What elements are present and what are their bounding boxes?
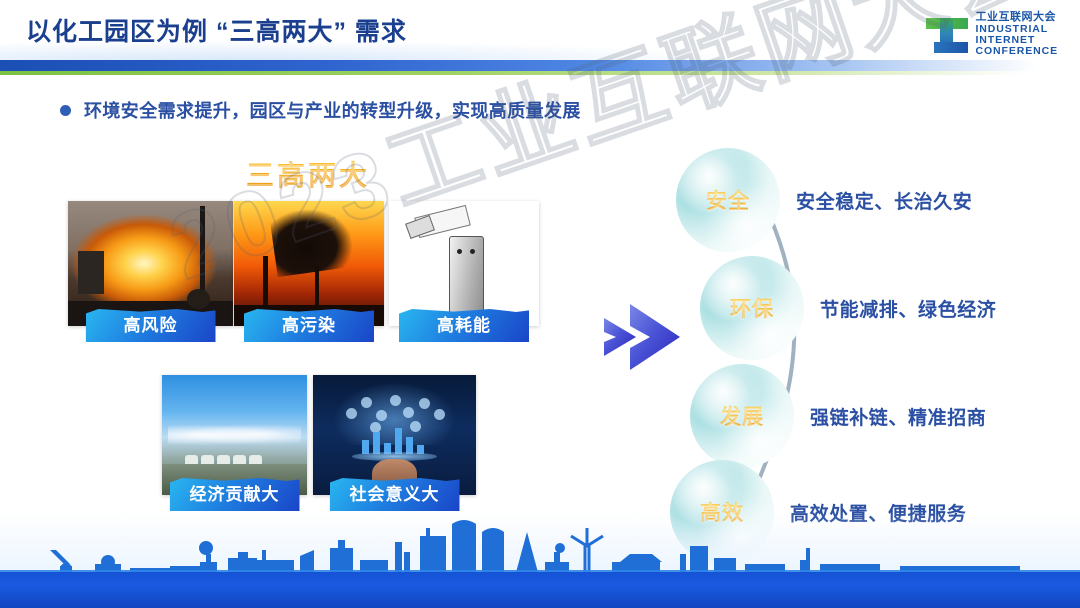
- bubble-label-safety: 安全: [706, 185, 750, 215]
- card-label-economic-contribution: 经济贡献大: [170, 478, 300, 511]
- card-label-high-energy: 高耗能: [399, 309, 529, 342]
- bubble-development: 发展: [690, 364, 794, 468]
- benefit-item-environment: 环保 节能减排、绿色经济: [700, 256, 996, 360]
- bubble-environment: 环保: [700, 256, 804, 360]
- logo-english-line-3: CONFERENCE: [975, 46, 1058, 57]
- gong-character-logo-mark-icon: [926, 14, 968, 56]
- card-high-risk: 高风险: [68, 201, 233, 326]
- bubble-label-development: 发展: [720, 401, 764, 431]
- city-cooling-towers-photo: [162, 375, 307, 495]
- bubble-safety: 安全: [676, 148, 780, 252]
- bullet-row: 环境安全需求提升，园区与产业的转型升级，实现高质量发展: [60, 97, 581, 123]
- bubble-desc-development: 强链补链、精准招商: [810, 403, 986, 430]
- bubble-label-environment: 环保: [730, 293, 774, 323]
- card-high-energy: 高耗能: [389, 201, 539, 326]
- conference-logo: 工业互联网大会 INDUSTRIAL INTERNET CONFERENCE: [926, 12, 1058, 57]
- card-high-pollution: 高污染: [234, 201, 384, 326]
- bottom-blue-band: [0, 572, 1080, 608]
- digital-technology-tree-photo: [313, 375, 476, 495]
- card-social-significance: 社会意义大: [313, 375, 476, 495]
- benefit-bubble-column: 安全 安全稳定、长治久安 环保 节能减排、绿色经济 发展 强链补链、精准招商 高…: [676, 148, 1080, 568]
- benefit-item-development: 发展 强链补链、精准招商: [690, 364, 986, 468]
- logo-chinese-name: 工业互联网大会: [975, 12, 1058, 24]
- bullet-text: 环境安全需求提升，园区与产业的转型升级，实现高质量发展: [84, 97, 581, 123]
- page-title: 以化工园区为例 “三高两大” 需求: [26, 12, 407, 48]
- logo-text-block: 工业互联网大会 INDUSTRIAL INTERNET CONFERENCE: [975, 12, 1058, 57]
- bubble-desc-environment: 节能减排、绿色经济: [820, 295, 996, 322]
- header-divider-blue: [0, 60, 1080, 71]
- smokestack-sunset-photo: [234, 201, 384, 326]
- industrial-explosion-photo: [68, 201, 233, 326]
- section-heading-sangao: 三高两大: [246, 154, 370, 194]
- card-label-high-pollution: 高污染: [244, 309, 374, 342]
- city-skyline-silhouette-icon: [0, 514, 1080, 576]
- header-divider-green: [0, 71, 1080, 75]
- slide-canvas: 以化工园区为例 “三高两大” 需求 工业互联网大会 INDUSTRIAL INT…: [0, 0, 1080, 608]
- bullet-dot-icon: [60, 105, 71, 116]
- card-label-high-risk: 高风险: [86, 309, 216, 342]
- card-economic-contribution: 经济贡献大: [162, 375, 307, 495]
- cartoon-chimney-illustration: [389, 201, 539, 326]
- bubble-desc-safety: 安全稳定、长治久安: [796, 187, 972, 214]
- card-label-social-significance: 社会意义大: [330, 478, 460, 511]
- benefit-item-safety: 安全 安全稳定、长治久安: [676, 148, 972, 252]
